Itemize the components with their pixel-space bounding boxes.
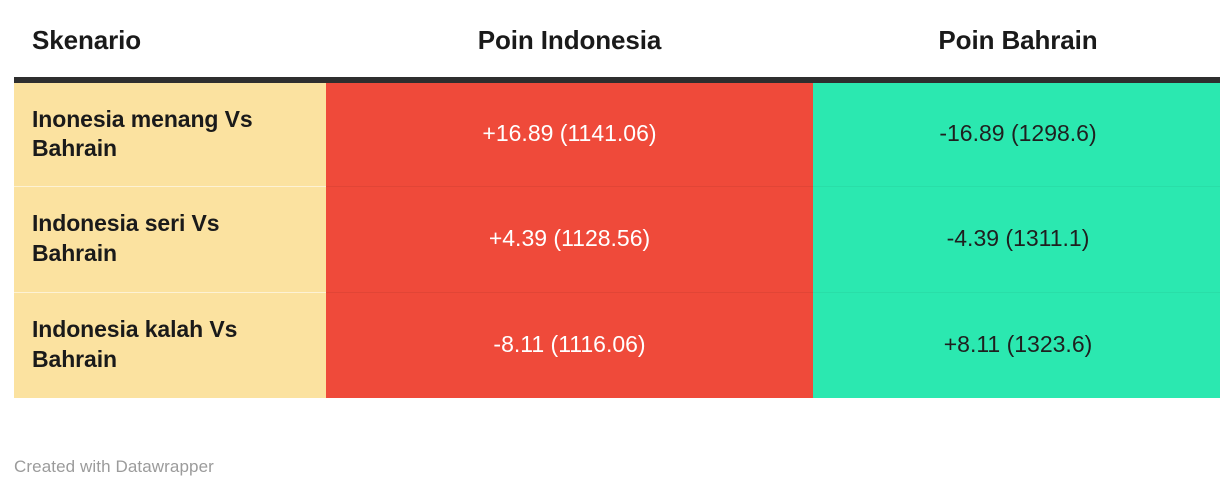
cell-poin-indonesia: +4.39 (1128.56) [326, 186, 813, 292]
cell-scenario: Indonesia kalah Vs Bahrain [14, 292, 326, 398]
cell-poin-bahrain: -16.89 (1298.6) [813, 80, 1220, 186]
table-row: Indonesia kalah Vs Bahrain -8.11 (1116.0… [14, 292, 1220, 398]
cell-poin-indonesia: +16.89 (1141.06) [326, 80, 813, 186]
datawrapper-credit[interactable]: Created with Datawrapper [14, 457, 214, 477]
cell-scenario: Indonesia seri Vs Bahrain [14, 186, 326, 292]
table-row: Indonesia seri Vs Bahrain +4.39 (1128.56… [14, 186, 1220, 292]
chart-container: Skenario Poin Indonesia Poin Bahrain Ino… [0, 0, 1220, 494]
column-header-poin-bahrain[interactable]: Poin Bahrain [813, 26, 1220, 80]
scenario-points-table: Skenario Poin Indonesia Poin Bahrain Ino… [14, 26, 1220, 398]
cell-poin-indonesia: -8.11 (1116.06) [326, 292, 813, 398]
table-header: Skenario Poin Indonesia Poin Bahrain [14, 26, 1220, 80]
column-header-poin-indonesia[interactable]: Poin Indonesia [326, 26, 813, 80]
column-header-scenario[interactable]: Skenario [14, 26, 326, 80]
cell-scenario: Inonesia menang Vs Bahrain [14, 80, 326, 186]
cell-poin-bahrain: -4.39 (1311.1) [813, 186, 1220, 292]
table-row: Inonesia menang Vs Bahrain +16.89 (1141.… [14, 80, 1220, 186]
cell-poin-bahrain: +8.11 (1323.6) [813, 292, 1220, 398]
table-body: Inonesia menang Vs Bahrain +16.89 (1141.… [14, 80, 1220, 398]
table-header-row: Skenario Poin Indonesia Poin Bahrain [14, 26, 1220, 80]
